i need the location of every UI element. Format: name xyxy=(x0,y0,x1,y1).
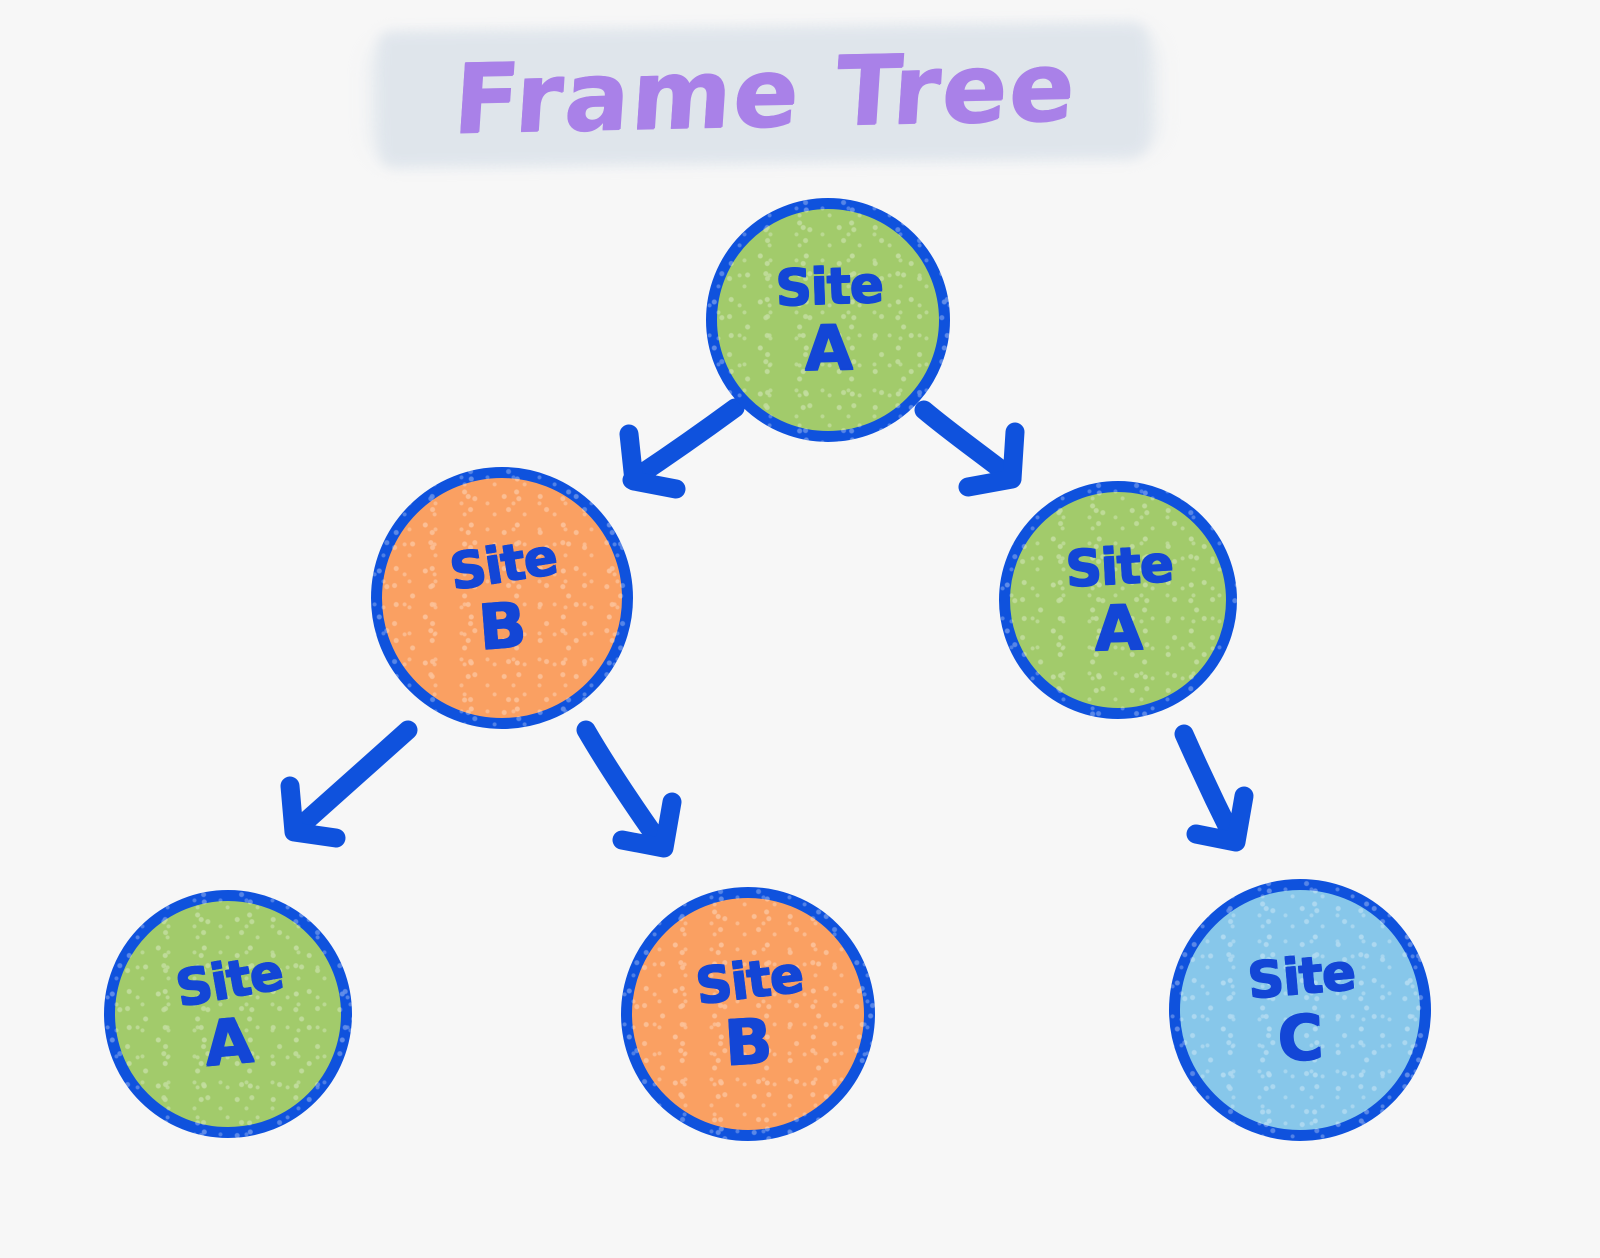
diagram-canvas: Frame Tree Site A xyxy=(0,0,1600,1258)
node-leaf-right[interactable]: Site C xyxy=(1169,879,1431,1141)
node-root[interactable]: Site A xyxy=(706,198,950,442)
node-label-site: Site xyxy=(171,946,285,1014)
node-label-site: Site xyxy=(1245,946,1356,1005)
node-label-site: Site xyxy=(774,259,883,313)
node-label-letter: C xyxy=(1276,1006,1324,1070)
diagram-title: Frame Tree xyxy=(370,18,1160,168)
arrow-midleft-to-leafleft xyxy=(290,730,408,838)
node-mid-left[interactable]: Site B xyxy=(371,467,633,729)
node-label-letter: A xyxy=(201,1009,254,1075)
arrow-root-to-mid-left xyxy=(629,408,735,489)
arrow-midright-to-leafright xyxy=(1184,734,1244,842)
node-leaf-mid[interactable]: Site B xyxy=(621,887,875,1141)
page-title: Frame Tree xyxy=(365,10,1165,177)
node-label-letter: B xyxy=(476,593,528,659)
node-leaf-left[interactable]: Site A xyxy=(104,890,352,1138)
arrow-midleft-to-leafmid xyxy=(586,730,672,848)
node-label-site: Site xyxy=(445,531,558,597)
node-label-letter: A xyxy=(803,317,852,380)
node-label-letter: B xyxy=(723,1010,774,1075)
node-label-site: Site xyxy=(1063,538,1172,594)
node-mid-right[interactable]: Site A xyxy=(999,481,1237,719)
node-label-letter: A xyxy=(1093,596,1143,659)
node-label-site: Site xyxy=(692,949,804,1012)
arrow-root-to-mid-right xyxy=(924,410,1015,487)
